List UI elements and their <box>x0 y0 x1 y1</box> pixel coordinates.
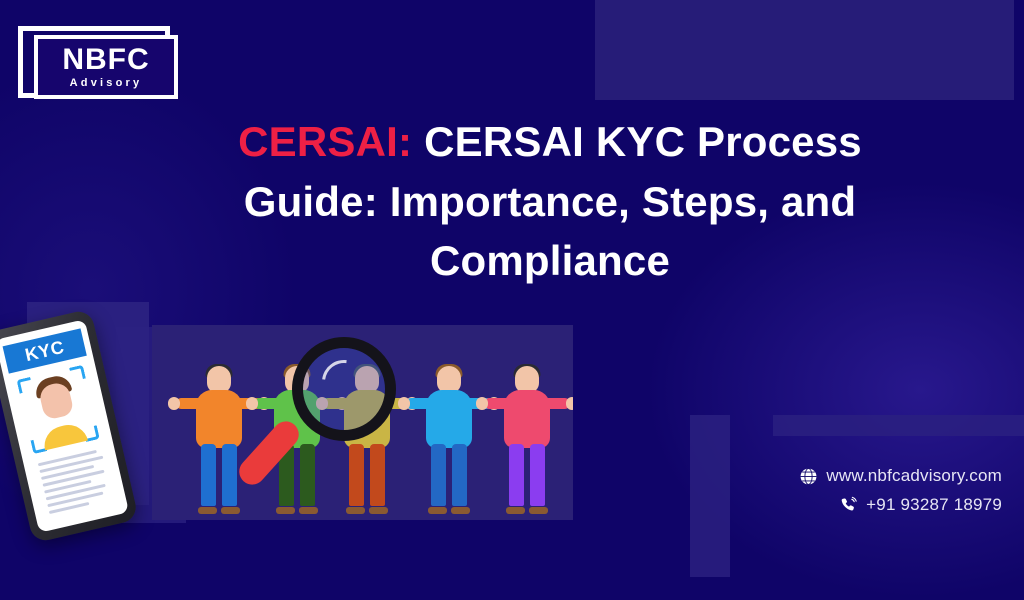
person-blue <box>414 366 484 516</box>
website-text: www.nbfcadvisory.com <box>826 466 1002 486</box>
hand-left <box>246 397 258 410</box>
legs <box>429 444 469 510</box>
hand-right <box>566 397 573 410</box>
document-text-lines <box>38 448 117 518</box>
brand-logo[interactable]: NBFC Advisory <box>18 26 178 104</box>
page-title: CERSAI: CERSAI KYC Process Guide: Import… <box>170 112 930 291</box>
website-row[interactable]: www.nbfcadvisory.com <box>702 466 1002 486</box>
magnifying-glass-icon <box>292 337 396 441</box>
scan-corner-tl <box>16 377 33 394</box>
logo-inner-frame: NBFC Advisory <box>34 35 178 99</box>
head <box>207 366 231 393</box>
person-pink <box>492 366 562 516</box>
hand-left <box>476 397 488 410</box>
phone-row[interactable]: +91 93287 18979 <box>702 495 1002 515</box>
hand-left <box>398 397 410 410</box>
torso <box>426 390 472 448</box>
legs <box>507 444 547 510</box>
torso <box>504 390 550 448</box>
decor-rect-top-right <box>595 0 1014 100</box>
torso <box>196 390 242 448</box>
logo-sub-text: Advisory <box>70 78 143 89</box>
decor-bar-horizontal <box>773 415 1024 436</box>
hand-left <box>168 397 180 410</box>
scan-corner-tr <box>69 365 86 382</box>
avatar-shirt <box>41 421 88 450</box>
head <box>515 366 539 393</box>
phone-ringing-icon <box>839 496 858 515</box>
magnifier-lens <box>292 337 396 441</box>
kyc-banner-label: KYC <box>23 336 66 365</box>
people-illustration-band <box>152 325 573 520</box>
magnifier-shine <box>313 351 375 413</box>
contact-block: www.nbfcadvisory.com +91 93287 18979 <box>702 466 1002 524</box>
face-scan-frame <box>16 365 99 454</box>
legs <box>199 444 239 510</box>
head <box>437 366 461 393</box>
legs <box>347 444 387 510</box>
title-accent-prefix: CERSAI: <box>238 118 412 165</box>
person-orange <box>184 366 254 516</box>
globe-icon <box>799 467 818 486</box>
logo-main-text: NBFC <box>62 45 149 75</box>
phone-text: +91 93287 18979 <box>866 495 1002 515</box>
